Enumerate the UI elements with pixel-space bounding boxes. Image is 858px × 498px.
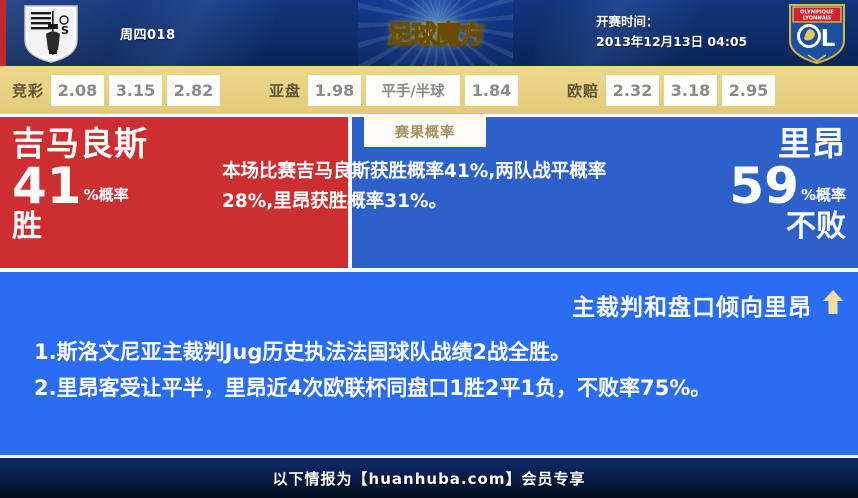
footer-text: 以下情报为【huanhuba.com】会员专享 (273, 468, 586, 489)
odds-cell[interactable]: 1.98 (308, 75, 361, 106)
match-number: 周四018 (120, 24, 176, 43)
home-team-block: 吉马良斯 41 %概率 胜 (12, 127, 222, 242)
home-probability-value: 41 (12, 164, 82, 208)
kickoff-time: 开赛时间： 2013年12月13日 04:05 (596, 12, 766, 52)
odds-cell[interactable]: 2.95 (722, 75, 775, 106)
odds-cell[interactable]: 3.15 (109, 75, 162, 106)
brand-logo: 足球魔方 (358, 0, 513, 66)
verdict-text: 主裁判和盘口倾向里昂 (572, 288, 812, 322)
away-probability-result: 不败 (616, 212, 846, 242)
odds-group-jingcai: 竞彩 2.08 3.15 2.82 (12, 75, 225, 106)
svg-text:S: S (61, 24, 69, 37)
away-team-name: 里昂 (616, 127, 846, 160)
analysis-note-item: 2.里昂客受让平半，里昂近4次欧联杯同盘口1胜2平1负，不败率75%。 (34, 370, 824, 406)
svg-text:LYONNAIS: LYONNAIS (803, 16, 832, 22)
odds-cell-handicap[interactable]: 平手/半球 (366, 75, 460, 106)
brand-text: 足球魔方 (387, 15, 483, 51)
odds-group-label: 亚盘 (269, 80, 301, 101)
verdict-heading: 主裁判和盘口倾向里昂 (572, 288, 844, 322)
probability-row: 吉马良斯 41 %概率 胜 里昂 59 %概率 不败 赛果概率 本场比赛吉马良斯… (0, 117, 858, 268)
left-edge-stripe (0, 0, 6, 66)
odds-group-yapan: 亚盘 1.98 平手/半球 1.84 (269, 75, 523, 106)
odds-group-label: 竞彩 (12, 80, 44, 101)
odds-group-label: 欧赔 (567, 80, 599, 101)
home-team-name: 吉马良斯 (12, 127, 222, 160)
match-header: S 周四018 足球魔方 开赛时间： 2013年12月13日 04:05 OLY… (0, 0, 858, 66)
tab-result-probability[interactable]: 赛果概率 (364, 117, 486, 147)
odds-bar: 竞彩 2.08 3.15 2.82 亚盘 1.98 平手/半球 1.84 欧赔 … (0, 66, 858, 114)
vitoria-guimaraes-crest-icon: S (22, 4, 80, 64)
odds-cell[interactable]: 3.18 (664, 75, 717, 106)
kickoff-value: 2013年12月13日 04:05 (596, 32, 766, 52)
odds-cell[interactable]: 1.84 (465, 75, 518, 106)
odds-cell[interactable]: 2.32 (606, 75, 659, 106)
home-probability-result: 胜 (12, 212, 222, 242)
probability-summary: 本场比赛吉马良斯获胜概率41%,两队战平概率28%,里昂获胜概率31%。 (222, 157, 630, 217)
analysis-notes: 1.斯洛文尼亚主裁判Jug历史执法法国球队战绩2战全胜。 2.里昂客受让平半，里… (34, 334, 824, 406)
kickoff-label: 开赛时间： (596, 12, 766, 32)
odds-cell[interactable]: 2.82 (167, 75, 220, 106)
analysis-panel: 主裁判和盘口倾向里昂 1.斯洛文尼亚主裁判Jug历史执法法国球队战绩2战全胜。 … (0, 272, 858, 455)
home-probability-suffix: %概率 (84, 188, 129, 208)
infographic-page: S 周四018 足球魔方 开赛时间： 2013年12月13日 04:05 OLY… (0, 0, 858, 498)
away-probability-value: 59 (729, 164, 799, 208)
analysis-note-item: 1.斯洛文尼亚主裁判Jug历史执法法国球队战绩2战全胜。 (34, 334, 824, 370)
away-team-block: 里昂 59 %概率 不败 (616, 127, 846, 242)
away-probability-suffix: %概率 (801, 188, 846, 208)
odds-group-oupei: 欧赔 2.32 3.18 2.95 (567, 75, 780, 106)
svg-text:L: L (821, 26, 836, 52)
odds-cell[interactable]: 2.08 (51, 75, 104, 106)
olympique-lyonnais-crest-icon: OLYMPIQUE LYONNAIS L (786, 3, 848, 65)
footer-bar: 以下情报为【huanhuba.com】会员专享 (0, 458, 858, 498)
arrow-up-icon (822, 289, 844, 321)
